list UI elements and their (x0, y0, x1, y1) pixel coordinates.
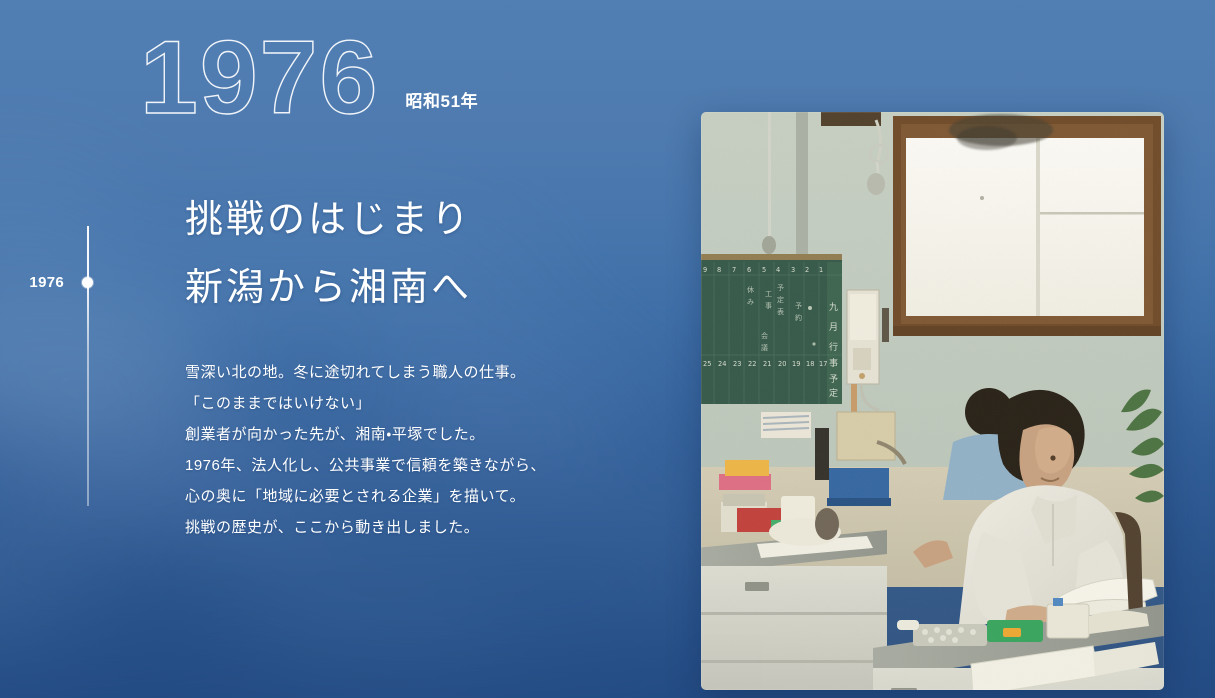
hero-year-row: 1976 昭和51年 (140, 26, 478, 130)
body-line-5: 心の奥に「地域に必要とされる企業」を描いて。 (185, 481, 546, 512)
historical-photo: 1976年の事務所風景。白いシャツの男性が机で書類を読んでいる。壁には黒板の予定… (701, 112, 1164, 690)
body-line-2: 「このままではいけない」 (185, 388, 546, 419)
headline-line-2: 新潟から湘南へ (185, 254, 472, 322)
body-line-1: 雪深い北の地。冬に途切れてしまう職人の仕事。 (185, 357, 546, 388)
body-line-3: 創業者が向かった先が、湘南・平塚でした。 (185, 419, 546, 450)
hero-content: 1976 昭和51年 挑戦のはじまり 新潟から湘南へ 雪深い北の地。冬に途切れて… (140, 0, 685, 698)
timeline-axis-line (87, 226, 89, 506)
headline-line-1: 挑戦のはじまり (185, 186, 472, 254)
hero-year-outline: 1976 (140, 26, 379, 130)
timeline-marker-dot[interactable] (82, 277, 93, 288)
hero-body-copy: 雪深い北の地。冬に途切れてしまう職人の仕事。 「このままではいけない」 創業者が… (185, 357, 546, 543)
timeline-rail: 1976 (0, 0, 160, 698)
hero-era-label: 昭和51年 (405, 87, 478, 112)
body-line-4: 1976年、法人化し、公共事業で信頼を築きながら、 (185, 450, 546, 481)
body-line-6: 挑戦の歴史が、ここから動き出しました。 (185, 512, 546, 543)
timeline-year-label[interactable]: 1976 (0, 272, 64, 293)
page-title: 挑戦のはじまり 新潟から湘南へ (185, 186, 472, 322)
